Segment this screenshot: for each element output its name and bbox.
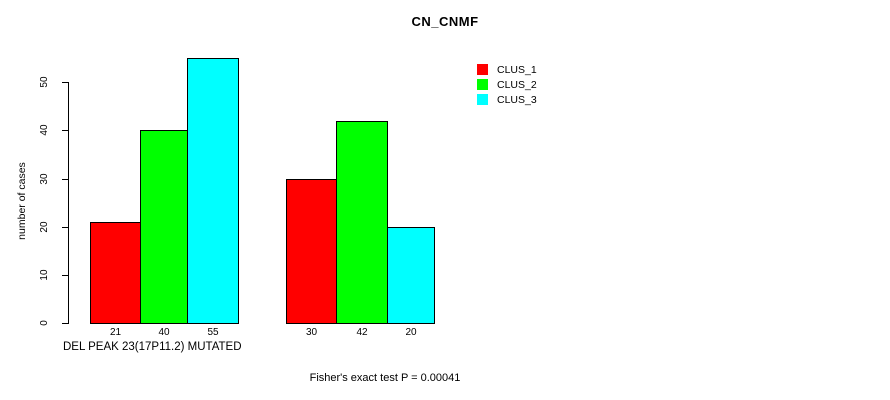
x-axis-title: DEL PEAK 23(17P11.2) MUTATED (63, 341, 242, 353)
bar-label-group2-clus3: 20 (387, 327, 435, 339)
y-tick-40 (62, 130, 69, 131)
bar-group2-clus2[interactable] (336, 121, 388, 324)
group1-baseline (90, 323, 239, 324)
legend-label-clus2: CLUS_2 (497, 79, 537, 91)
y-tick-label-0: 0 (40, 311, 50, 335)
y-tick-label-10: 10 (40, 263, 50, 287)
y-tick-10 (62, 275, 69, 276)
bar-label-group1-clus1: 21 (90, 327, 141, 339)
bar-label-group2-clus1: 30 (286, 327, 337, 339)
legend-swatch-clus3 (477, 94, 488, 105)
y-tick-50 (62, 82, 69, 83)
legend-label-clus3: CLUS_3 (497, 94, 537, 106)
legend-item-clus1[interactable]: CLUS_1 (477, 62, 537, 77)
bar-label-group2-clus2: 42 (336, 327, 388, 339)
bar-label-group1-clus2: 40 (140, 327, 188, 339)
legend-label-clus1: CLUS_1 (497, 64, 537, 76)
bar-group1-clus2[interactable] (140, 130, 188, 324)
bar-group1-clus1[interactable] (90, 222, 141, 324)
bar-label-group1-clus3: 55 (187, 327, 239, 339)
bar-group2-clus1[interactable] (286, 179, 337, 324)
y-tick-label-40: 40 (40, 118, 50, 142)
bar-group2-clus3[interactable] (387, 227, 435, 324)
y-tick-label-50: 50 (40, 70, 50, 94)
y-tick-label-20: 20 (40, 215, 50, 239)
legend: CLUS_1 CLUS_2 CLUS_3 (477, 62, 537, 107)
legend-item-clus3[interactable]: CLUS_3 (477, 92, 537, 107)
fisher-exact-test-annotation: Fisher's exact test P = 0.00041 (0, 372, 890, 384)
legend-item-clus2[interactable]: CLUS_2 (477, 77, 537, 92)
y-tick-30 (62, 179, 69, 180)
bar-group1-clus3[interactable] (187, 58, 239, 324)
plot-area: 0 10 20 30 40 50 number of cases 21 40 5… (0, 0, 470, 400)
legend-swatch-clus1 (477, 64, 488, 75)
y-axis-line (68, 82, 69, 324)
y-tick-label-30: 30 (40, 167, 50, 191)
legend-swatch-clus2 (477, 79, 488, 90)
y-axis-title: number of cases (16, 141, 28, 261)
group2-baseline (286, 323, 435, 324)
y-tick-20 (62, 227, 69, 228)
y-tick-0 (62, 323, 69, 324)
